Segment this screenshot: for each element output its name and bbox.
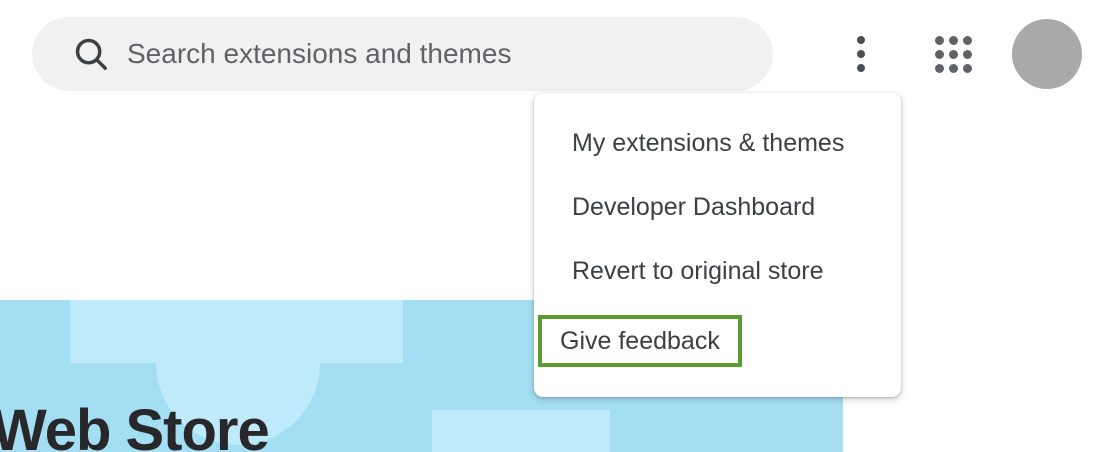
apps-grid-dot xyxy=(935,50,944,59)
apps-grid-dot xyxy=(963,50,972,59)
banner-title: Web Store xyxy=(0,402,269,452)
avatar[interactable] xyxy=(1012,19,1082,89)
apps-grid-dot xyxy=(963,36,972,45)
menu-item-my-extensions-and-themes[interactable]: My extensions & themes xyxy=(556,121,860,165)
menu-item-revert-to-original-store[interactable]: Revert to original store xyxy=(556,249,840,293)
overflow-dropdown-menu: My extensions & themes Developer Dashboa… xyxy=(534,93,901,397)
web-store-page: Web Store My e xyxy=(0,0,1120,452)
menu-item-give-feedback[interactable]: Give feedback xyxy=(538,315,742,367)
three-dots-dot xyxy=(857,64,865,72)
three-dots-vertical-icon[interactable] xyxy=(840,30,882,78)
search-icon xyxy=(72,35,110,73)
page-header xyxy=(0,0,1120,108)
banner-decorative-rectangle xyxy=(70,300,403,363)
search-bar[interactable] xyxy=(32,17,773,91)
menu-item-developer-dashboard[interactable]: Developer Dashboard xyxy=(556,185,831,229)
apps-grid-icon[interactable] xyxy=(928,30,974,78)
three-dots-dot xyxy=(857,36,865,44)
apps-grid-dot xyxy=(949,64,958,73)
apps-grid-dot xyxy=(935,36,944,45)
three-dots-dot xyxy=(857,50,865,58)
search-input[interactable] xyxy=(127,17,757,91)
apps-grid-dot xyxy=(949,36,958,45)
apps-grid-dot xyxy=(935,64,944,73)
apps-grid-dot xyxy=(949,50,958,59)
apps-grid-dot xyxy=(963,64,972,73)
banner-decorative-rectangle-secondary xyxy=(432,410,610,452)
